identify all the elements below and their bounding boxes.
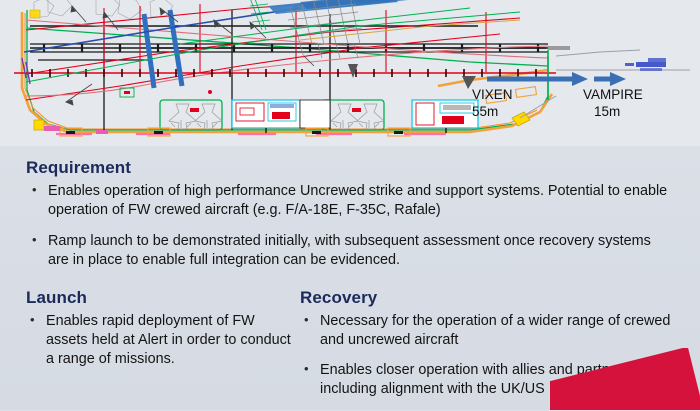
flight-deck-diagram: VIXEN 55m VAMPIRE 15m xyxy=(0,0,700,146)
launch-column: Launch Enables rapid deployment of FW as… xyxy=(26,288,294,380)
requirement-bullets: Enables operation of high performance Un… xyxy=(26,182,674,281)
vixen-distance: 55m xyxy=(472,104,498,119)
launch-bullet-1: Enables rapid deployment of FW assets he… xyxy=(26,312,294,369)
deck-equipment-module-2 xyxy=(412,100,478,133)
slide-root: VIXEN 55m VAMPIRE 15m Requirement Enable… xyxy=(0,0,700,410)
recovery-heading: Recovery xyxy=(300,288,680,308)
vampire-label: VAMPIRE xyxy=(583,87,643,102)
deck-dot xyxy=(208,90,212,94)
vixen-label: VIXEN xyxy=(472,87,513,102)
requirement-heading: Requirement xyxy=(26,158,131,178)
corner-accent-shape xyxy=(550,348,700,410)
red-wedge xyxy=(550,348,700,410)
requirement-bullet-2: Ramp launch to be demonstrated initially… xyxy=(26,232,674,271)
launch-heading: Launch xyxy=(26,288,294,308)
right-label-marks xyxy=(548,46,570,50)
requirement-bullet-1: Enables operation of high performance Un… xyxy=(26,182,674,221)
flight-deck-diagram-svg: VIXEN 55m VAMPIRE 15m xyxy=(0,0,700,146)
recovery-bullet-1: Necessary for the operation of a wider r… xyxy=(300,312,680,350)
vampire-distance: 15m xyxy=(594,104,620,119)
